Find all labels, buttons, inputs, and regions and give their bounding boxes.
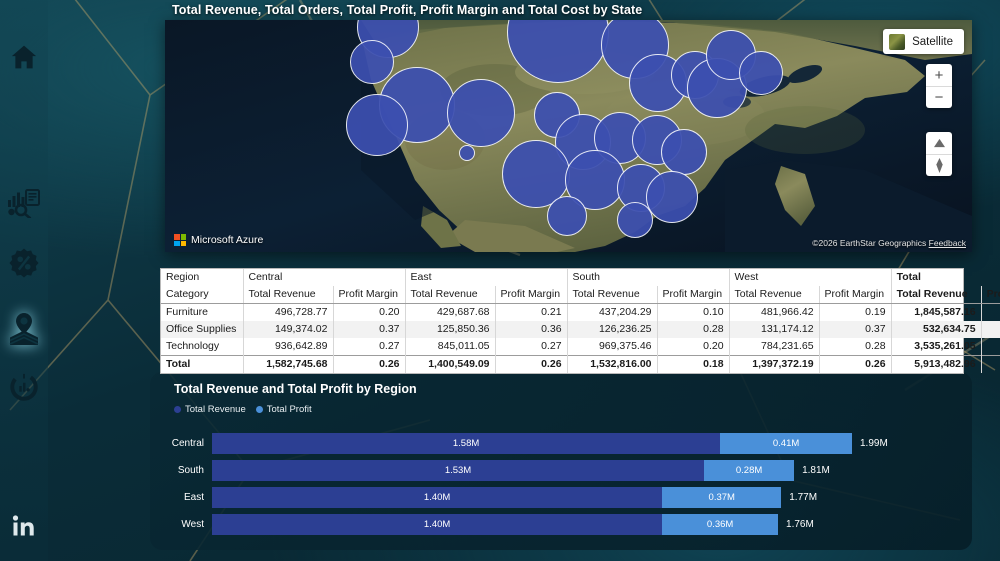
chart-category-label: South (162, 465, 212, 476)
page-title: Total Revenue, Total Orders, Total Profi… (172, 3, 642, 17)
map-style-satellite-button[interactable]: Satellite (883, 29, 964, 54)
row-header-bottom[interactable]: Category (161, 286, 243, 304)
chart-legend[interactable]: Total RevenueTotal Profit (174, 404, 312, 415)
map-visual[interactable]: Satellite + − Microsoft Azure ©2026 Eart… (165, 20, 972, 252)
chart-bar-group: 1.58M0.41M (212, 433, 852, 454)
row-category-label: Technology (161, 338, 243, 356)
matrix-visual[interactable]: Region Central East South West Total Cat… (160, 268, 964, 374)
legend-label: Total Profit (267, 404, 312, 415)
chart-bar-group: 1.53M0.28M (212, 460, 794, 481)
chart-total-label: 1.77M (789, 492, 817, 503)
table-cell: 0.21 (495, 304, 567, 322)
row-category-label: Office Supplies (161, 321, 243, 338)
matrix-total-row[interactable]: Total1,582,745.680.261,400,549.090.261,5… (161, 356, 1000, 374)
zoom-in-button[interactable]: + (926, 64, 952, 86)
table-cell: 784,231.65 (729, 338, 819, 356)
table-cell: 0.27 (495, 338, 567, 356)
map-bubble[interactable] (447, 79, 515, 147)
region-header-south[interactable]: South (567, 269, 729, 286)
table-cell: 437,204.29 (567, 304, 657, 322)
chart-bar-group: 1.40M0.36M (212, 514, 778, 535)
pitch-icon (933, 138, 946, 149)
table-cell: 0.26 (495, 356, 567, 374)
table-cell: 1,582,745.68 (243, 356, 333, 374)
chart-total-label: 1.81M (802, 465, 830, 476)
legend-label: Total Revenue (185, 404, 246, 415)
sidebar-item-home[interactable] (0, 34, 48, 80)
sidebar-item-linkedin[interactable] (0, 503, 48, 549)
measure-header-east-revenue[interactable]: Total Revenue (405, 286, 495, 304)
map-bubble[interactable] (346, 94, 408, 156)
table-cell: 0.28 (657, 321, 729, 338)
table-cell: 0.10 (657, 304, 729, 322)
table-cell: 0.26 (333, 356, 405, 374)
discount-percent-icon (9, 248, 39, 278)
measure-header-total-revenue[interactable]: Total Revenue (891, 286, 981, 304)
map-bubble[interactable] (459, 145, 475, 161)
matrix-header: Region Central East South West Total Cat… (161, 269, 1000, 304)
measure-header-central-margin[interactable]: Profit Margin (333, 286, 405, 304)
chart-bar-segment-profit[interactable]: 0.37M (662, 487, 781, 508)
chart-bar-group: 1.40M0.37M (212, 487, 781, 508)
table-cell: 481,966.42 (729, 304, 819, 322)
map-attribution: ©2026 EarthStar Geographics Feedback (812, 238, 966, 248)
azure-label: Microsoft Azure (191, 234, 263, 246)
chart-bar-row[interactable]: Central1.58M0.41M1.99M (162, 430, 964, 457)
chart-plot-area: Central1.58M0.41M1.99MSouth1.53M0.28M1.8… (162, 430, 964, 544)
dashboard-donut-icon (9, 372, 39, 402)
table-cell: 496,728.77 (243, 304, 333, 322)
table-cell: 0.28 (819, 338, 891, 356)
satellite-thumbnail-icon (889, 34, 905, 50)
map-bubble[interactable] (739, 51, 783, 95)
home-icon (9, 43, 39, 71)
table-cell: 0.37 (333, 321, 405, 338)
matrix-measure-header-row: Category Total Revenue Profit Margin Tot… (161, 286, 1000, 304)
chart-bar-segment-profit[interactable]: 0.41M (720, 433, 852, 454)
table-cell: 131,174.12 (729, 321, 819, 338)
sidebar-item-analytics[interactable] (0, 180, 48, 226)
table-row[interactable]: Furniture496,728.770.20429,687.680.21437… (161, 304, 1000, 322)
sidebar-item-discounts[interactable] (0, 240, 48, 286)
measure-header-west-margin[interactable]: Profit Margin (819, 286, 891, 304)
table-cell: 0.37 (819, 321, 891, 338)
table-cell: 149,374.02 (243, 321, 333, 338)
region-header-total[interactable]: Total (891, 269, 1000, 286)
table-cell: 845,011.05 (405, 338, 495, 356)
chart-bar-row[interactable]: South1.53M0.28M1.81M (162, 457, 964, 484)
matrix-region-header-row: Region Central East South West Total (161, 269, 1000, 286)
zoom-out-button[interactable]: − (926, 86, 952, 108)
table-cell: 0.35 (981, 321, 1000, 338)
region-header-east[interactable]: East (405, 269, 567, 286)
linkedin-icon (12, 514, 36, 538)
map-location-icon (8, 312, 40, 346)
chart-bar-segment-profit[interactable]: 0.36M (662, 514, 778, 535)
chart-category-label: Central (162, 438, 212, 449)
legend-swatch-icon (256, 406, 263, 413)
matrix-table: Region Central East South West Total Cat… (161, 269, 1000, 373)
region-header-west[interactable]: West (729, 269, 891, 286)
table-row[interactable]: Technology936,642.890.27845,011.050.2796… (161, 338, 1000, 356)
attribution-text: ©2026 EarthStar Geographics (812, 238, 926, 248)
table-cell: 0.20 (333, 304, 405, 322)
table-cell: 936,642.89 (243, 338, 333, 356)
table-cell: 429,687.68 (405, 304, 495, 322)
row-category-label: Furniture (161, 304, 243, 322)
table-cell: 0.27 (333, 338, 405, 356)
table-cell: 125,850.36 (405, 321, 495, 338)
table-cell: 1,397,372.19 (729, 356, 819, 374)
row-category-label: Total (161, 356, 243, 374)
table-cell: 1,532,816.00 (567, 356, 657, 374)
pitch-button[interactable] (926, 132, 952, 154)
table-cell: 0.19 (819, 304, 891, 322)
chart-bar-row[interactable]: West1.40M0.36M1.76M (162, 511, 964, 538)
map-bubble[interactable] (661, 129, 707, 175)
chart-total-label: 1.99M (860, 438, 888, 449)
chart-bar-segment-profit[interactable]: 0.28M (704, 460, 794, 481)
chart-category-label: West (162, 519, 212, 530)
measure-header-central-revenue[interactable]: Total Revenue (243, 286, 333, 304)
measure-header-east-margin[interactable]: Profit Margin (495, 286, 567, 304)
analytics-search-icon (8, 188, 40, 218)
table-cell: 532,634.75 (891, 321, 981, 338)
table-cell: 3,535,261.05 (891, 338, 981, 356)
map-bubble[interactable] (547, 196, 587, 236)
feedback-link[interactable]: Feedback (929, 238, 966, 248)
map-bubble[interactable] (617, 202, 653, 238)
legend-item-revenue[interactable]: Total Revenue (174, 404, 246, 415)
map-bubble[interactable] (350, 40, 394, 84)
sidebar (0, 0, 48, 561)
chart-bar-segment-revenue[interactable]: 1.40M (212, 514, 662, 535)
table-cell: 126,236.25 (567, 321, 657, 338)
table-cell: 1,400,549.09 (405, 356, 495, 374)
sidebar-item-geography[interactable] (0, 306, 48, 352)
table-cell: 0.20 (657, 338, 729, 356)
azure-maps-branding: Microsoft Azure (174, 234, 263, 246)
compass-button[interactable] (926, 154, 952, 176)
compass-needle-icon (934, 158, 945, 173)
region-header-central[interactable]: Central (243, 269, 405, 286)
table-cell: 0.36 (495, 321, 567, 338)
table-cell: 0.18 (981, 304, 1000, 322)
table-cell: 5,913,482.96 (891, 356, 981, 374)
legend-swatch-icon (174, 406, 181, 413)
map-style-label: Satellite (912, 36, 953, 48)
measure-header-total-margin[interactable]: Profit Margin (981, 286, 1000, 304)
matrix-body: Furniture496,728.770.20429,687.680.21437… (161, 304, 1000, 374)
measure-header-west-revenue[interactable]: Total Revenue (729, 286, 819, 304)
measure-header-south-margin[interactable]: Profit Margin (657, 286, 729, 304)
chart-title: Total Revenue and Total Profit by Region (174, 382, 417, 396)
table-row[interactable]: Office Supplies149,374.020.37125,850.360… (161, 321, 1000, 338)
table-cell: 969,375.46 (567, 338, 657, 356)
bar-chart-visual[interactable]: Total Revenue and Total Profit by Region… (150, 372, 972, 550)
microsoft-logo-icon (174, 234, 186, 246)
chart-category-label: East (162, 492, 212, 503)
measure-header-south-revenue[interactable]: Total Revenue (567, 286, 657, 304)
chart-total-label: 1.76M (786, 519, 814, 530)
row-header-top[interactable]: Region (161, 269, 243, 286)
map-zoom-controls[interactable]: + − (926, 64, 952, 108)
map-bubble[interactable] (646, 171, 698, 223)
chart-bar-segment-revenue[interactable]: 1.53M (212, 460, 704, 481)
map-orientation-controls[interactable] (926, 132, 952, 176)
sidebar-item-dashboard[interactable] (0, 364, 48, 410)
table-cell: 0.24 (981, 356, 1000, 374)
table-cell: 0.26 (981, 338, 1000, 356)
chart-bar-segment-revenue[interactable]: 1.58M (212, 433, 720, 454)
chart-bar-row[interactable]: East1.40M0.37M1.77M (162, 484, 964, 511)
chart-bar-segment-revenue[interactable]: 1.40M (212, 487, 662, 508)
legend-item-profit[interactable]: Total Profit (256, 404, 312, 415)
table-cell: 1,845,587.16 (891, 304, 981, 322)
table-cell: 0.18 (657, 356, 729, 374)
table-cell: 0.26 (819, 356, 891, 374)
